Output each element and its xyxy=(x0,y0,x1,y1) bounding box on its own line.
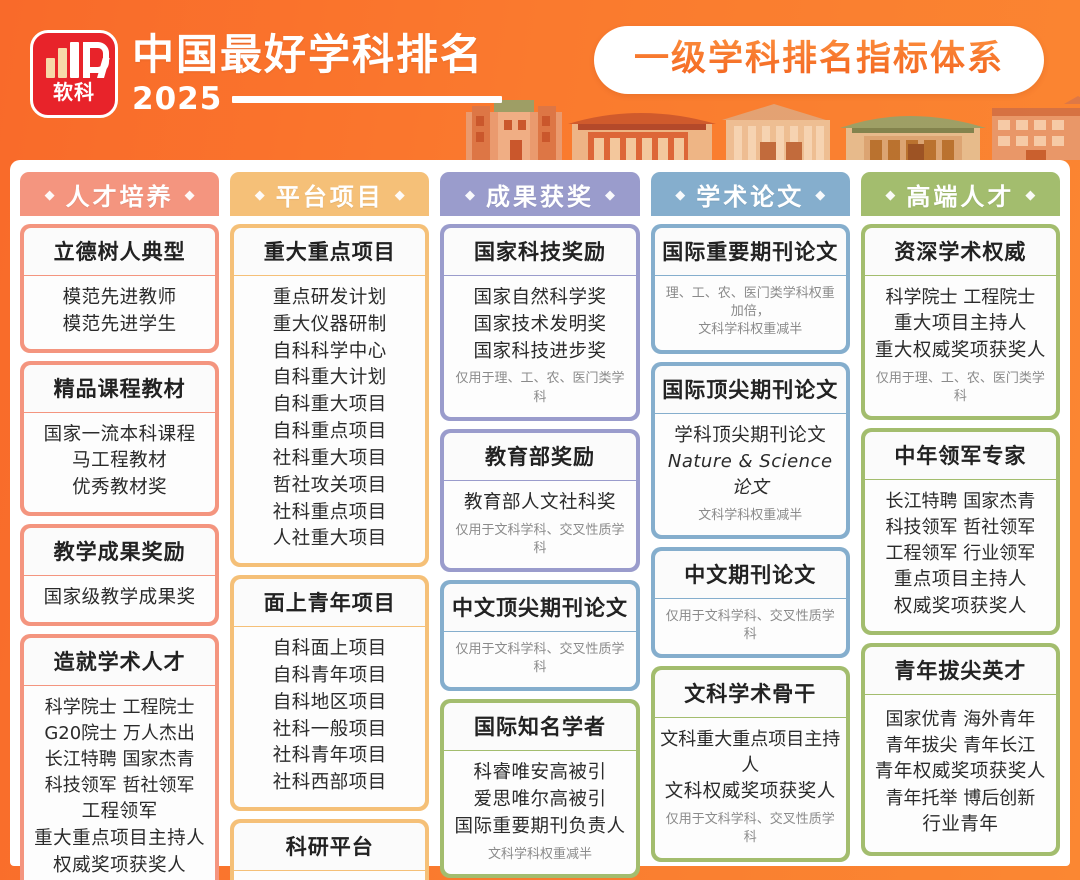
indicator-item: 科睿唯安高被引 xyxy=(449,760,630,787)
group-title: 国际重要期刊论文 xyxy=(655,228,846,275)
indicator-item: 模范先进教师 xyxy=(29,285,210,312)
column-col4: ◆学术论文◆国际重要期刊论文理、工、农、医门类学科权重加倍，文科学科权重减半国际… xyxy=(651,172,850,856)
indicator-group[interactable]: 中年领军专家长江特聘 国家杰青科技领军 哲社领军工程领军 行业领军重点项目主持人… xyxy=(861,428,1060,635)
group-body: 自科面上项目自科青年项目自科地区项目社科一般项目社科青年项目社科西部项目 xyxy=(234,627,425,807)
diamond-icon: ◆ xyxy=(395,188,405,201)
diamond-icon: ◆ xyxy=(465,188,475,201)
indicator-item: 哲社攻关项目 xyxy=(239,473,420,500)
indicator-item: 文科权威奖项获奖人 xyxy=(660,779,841,806)
indicator-note: 文科学科权重减半 xyxy=(449,846,630,864)
indicator-item: 国家一流本科课程 xyxy=(29,422,210,449)
group-body: 国家级教学成果奖 xyxy=(24,576,215,622)
indicator-item: 社科西部项目 xyxy=(239,770,420,797)
group-body: 理、工、农、医门类学科权重加倍，文科学科权重减半 xyxy=(655,276,846,350)
indicator-group[interactable]: 文科学术骨干文科重大重点项目主持人文科权威奖项获奖人仅用于文科学科、交叉性质学科 xyxy=(651,666,850,861)
indicator-item: 社科重大项目 xyxy=(239,446,420,473)
indicator-item: 重大重点项目主持人 xyxy=(29,826,210,853)
group-body: 科睿唯安高被引爱思唯尔高被引国际重要期刊负责人文科学科权重减半 xyxy=(444,751,635,874)
indicator-item: 自科重大计划 xyxy=(239,365,420,392)
group-title: 教学成果奖励 xyxy=(24,528,215,575)
indicator-group[interactable]: 教学成果奖励国家级教学成果奖 xyxy=(20,524,219,626)
indicator-note: 仅用于文科学科、交叉性质学科 xyxy=(449,641,630,677)
column-col3: ◆成果获奖◆国家科技奖励国家自然科学奖国家技术发明奖国家科技进步奖仅用于理、工、… xyxy=(440,172,639,856)
indicator-item: 优秀教材奖 xyxy=(29,475,210,502)
indicator-item: 国家科技进步奖 xyxy=(449,339,630,366)
diamond-icon: ◆ xyxy=(885,188,895,201)
diamond-icon: ◆ xyxy=(45,188,55,201)
indicator-item: 重点项目主持人 xyxy=(870,567,1051,594)
indicator-item: 权威奖项获奖人 xyxy=(870,594,1051,621)
brand-block: 软科 中国最好学科排名 2025 xyxy=(30,30,502,118)
indicator-item: 重大项目主持人 xyxy=(870,311,1051,338)
indicator-item: 工程领军 行业领军 xyxy=(870,541,1051,567)
group-title: 教育部奖励 xyxy=(444,433,635,480)
group-title: 文科学术骨干 xyxy=(655,670,846,717)
indicator-item: 科技领军 哲社领军 xyxy=(870,515,1051,541)
indicator-item: 权威奖项获奖人 xyxy=(29,853,210,880)
group-title: 立德树人典型 xyxy=(24,228,215,275)
indicator-item: 教育部人文社科奖 xyxy=(449,490,630,517)
group-body: 模范先进教师模范先进学生 xyxy=(24,276,215,349)
indicator-item: 社科重点项目 xyxy=(239,500,420,527)
indicator-group[interactable]: 教育部奖励教育部人文社科奖仅用于文科学科、交叉性质学科 xyxy=(440,429,639,572)
indicator-group[interactable]: 国际重要期刊论文理、工、农、医门类学科权重加倍，文科学科权重减半 xyxy=(651,224,850,354)
indicator-item: Nature & Science 论文 xyxy=(660,449,841,501)
column-header-col2[interactable]: ◆平台项目◆ xyxy=(230,172,429,216)
brand-year: 2025 xyxy=(132,84,222,115)
brand-title: 中国最好学科排名 xyxy=(132,32,502,78)
column-header-col5[interactable]: ◆高端人才◆ xyxy=(861,172,1060,216)
indicator-item: 青年权威奖项获奖人 xyxy=(870,759,1051,786)
indicator-item: 自科面上项目 xyxy=(239,636,420,663)
brand-rule-divider xyxy=(232,96,502,103)
group-body: 国家优青 海外青年青年拔尖 青年长江青年权威奖项获奖人青年托举 博后创新行业青年 xyxy=(865,695,1056,852)
indicator-note: 仅用于文科学科、交叉性质学科 xyxy=(660,608,841,644)
indicator-item: 科学院士 工程院士 xyxy=(29,695,210,721)
page-header: 软科 中国最好学科排名 2025 一级学科排名指标体系 xyxy=(0,0,1080,160)
indicator-item: 长江特聘 国家杰青 xyxy=(29,747,210,773)
indicator-item: 模范先进学生 xyxy=(29,312,210,339)
indicator-group[interactable]: 面上青年项目自科面上项目自科青年项目自科地区项目社科一般项目社科青年项目社科西部… xyxy=(230,575,429,811)
group-title: 国际顶尖期刊论文 xyxy=(655,366,846,413)
group-title: 精品课程教材 xyxy=(24,365,215,412)
diamond-icon: ◆ xyxy=(1025,188,1035,201)
indicator-item: 重大权威奖项获奖人 xyxy=(870,338,1051,365)
indicator-item: 科技领军 哲社领军 xyxy=(29,773,210,799)
indicator-group[interactable]: 中文期刊论文仅用于文科学科、交叉性质学科 xyxy=(651,547,850,658)
group-body: 科学院士 工程院士重大项目主持人重大权威奖项获奖人仅用于理、工、农、医门类学科 xyxy=(865,276,1056,416)
group-body: 国家自然科学奖国家技术发明奖国家科技进步奖仅用于理、工、农、医门类学科 xyxy=(444,276,635,417)
indicator-item: 国际重要期刊负责人 xyxy=(449,814,630,841)
group-title: 青年拔尖英才 xyxy=(865,647,1056,694)
page-title: 一级学科排名指标体系 xyxy=(634,39,1004,79)
indicator-item: 爱思唯尔高被引 xyxy=(449,787,630,814)
column-title: 高端人才 xyxy=(906,177,1014,212)
indicator-item: 自科重点项目 xyxy=(239,419,420,446)
indicator-item: 国家优青 海外青年 xyxy=(870,707,1051,733)
indicator-item: 重大仪器研制 xyxy=(239,312,420,339)
diamond-icon: ◆ xyxy=(185,188,195,201)
indicator-item: 青年托举 博后创新 xyxy=(870,786,1051,812)
indicator-group[interactable]: 国家科技奖励国家自然科学奖国家技术发明奖国家科技进步奖仅用于理、工、农、医门类学… xyxy=(440,224,639,421)
column-col2: ◆平台项目◆重大重点项目重点研发计划重大仪器研制自科科学中心自科重大计划自科重大… xyxy=(230,172,429,856)
indicator-note: 文科学科权重减半 xyxy=(660,507,841,525)
page-title-pill: 一级学科排名指标体系 xyxy=(594,26,1044,94)
university-buildings-illustration xyxy=(460,94,1080,160)
indicator-note: 仅用于理、工、农、医门类学科 xyxy=(870,370,1051,406)
indicator-item: 自科青年项目 xyxy=(239,663,420,690)
indicator-note: 仅用于文科学科、交叉性质学科 xyxy=(449,522,630,558)
indicator-group[interactable]: 重大重点项目重点研发计划重大仪器研制自科科学中心自科重大计划自科重大项目自科重点… xyxy=(230,224,429,567)
column-header-col3[interactable]: ◆成果获奖◆ xyxy=(440,172,639,216)
group-title: 中年领军专家 xyxy=(865,432,1056,479)
group-body: 学科顶尖期刊论文Nature & Science 论文文科学科权重减半 xyxy=(655,414,846,535)
indicator-item: 学科顶尖期刊论文 xyxy=(660,423,841,450)
indicator-item: 科学院士 工程院士 xyxy=(870,285,1051,311)
indicator-group[interactable]: 精品课程教材国家一流本科课程马工程教材优秀教材奖 xyxy=(20,361,219,516)
group-title: 重大重点项目 xyxy=(234,228,425,275)
column-title: 学术论文 xyxy=(696,177,804,212)
indicator-item: 文科重大重点项目主持人 xyxy=(660,727,841,779)
group-body: 科学院士 工程院士G20院士 万人杰出长江特聘 国家杰青科技领军 哲社领军工程领… xyxy=(24,686,215,880)
group-title: 造就学术人才 xyxy=(24,638,215,685)
indicator-group[interactable]: 立德树人典型模范先进教师模范先进学生 xyxy=(20,224,219,353)
indicator-item: 社科一般项目 xyxy=(239,717,420,744)
indicator-note: 理、工、农、医门类学科权重加倍，文科学科权重减半 xyxy=(660,285,841,340)
group-body: 仅用于文科学科、交叉性质学科 xyxy=(655,599,846,654)
diamond-icon: ◆ xyxy=(815,188,825,201)
column-title: 人才培养 xyxy=(66,177,174,212)
indicator-note: 仅用于文科学科、交叉性质学科 xyxy=(660,811,841,847)
indicator-group[interactable]: 国际知名学者科睿唯安高被引爱思唯尔高被引国际重要期刊负责人文科学科权重减半 xyxy=(440,699,639,878)
logo-text: 软科 xyxy=(53,82,95,102)
indicator-item: 自科科学中心 xyxy=(239,339,420,366)
indicator-group[interactable]: 科研平台文科学科权重减半 xyxy=(230,819,429,880)
group-body: 文科学科权重减半 xyxy=(234,871,425,880)
column-col5: ◆高端人才◆资深学术权威科学院士 工程院士重大项目主持人重大权威奖项获奖人仅用于… xyxy=(861,172,1060,856)
indicator-item: 重点研发计划 xyxy=(239,285,420,312)
indicator-item: 国家自然科学奖 xyxy=(449,285,630,312)
group-body: 长江特聘 国家杰青科技领军 哲社领军工程领军 行业领军重点项目主持人权威奖项获奖… xyxy=(865,480,1056,631)
indicator-group[interactable]: 国际顶尖期刊论文学科顶尖期刊论文Nature & Science 论文文科学科权… xyxy=(651,362,850,539)
indicator-note: 仅用于理、工、农、医门类学科 xyxy=(449,370,630,406)
indicator-item: 国家技术发明奖 xyxy=(449,312,630,339)
group-body: 重点研发计划重大仪器研制自科科学中心自科重大计划自科重大项目自科重点项目社科重大… xyxy=(234,276,425,563)
group-title: 资深学术权威 xyxy=(865,228,1056,275)
column-title: 成果获奖 xyxy=(486,177,594,212)
logo-bar-chart-icon xyxy=(46,42,103,78)
indicator-item: 人社重大项目 xyxy=(239,526,420,553)
group-body: 仅用于文科学科、交叉性质学科 xyxy=(444,632,635,687)
column-header-col1[interactable]: ◆人才培养◆ xyxy=(20,172,219,216)
diamond-icon: ◆ xyxy=(255,188,265,201)
indicator-group[interactable]: 造就学术人才科学院士 工程院士G20院士 万人杰出长江特聘 国家杰青科技领军 哲… xyxy=(20,634,219,880)
indicator-item: G20院士 万人杰出 xyxy=(29,721,210,747)
group-title: 面上青年项目 xyxy=(234,579,425,626)
indicator-board: ◆人才培养◆立德树人典型模范先进教师模范先进学生精品课程教材国家一流本科课程马工… xyxy=(10,160,1070,866)
indicator-item: 长江特聘 国家杰青 xyxy=(870,489,1051,515)
diamond-icon: ◆ xyxy=(605,188,615,201)
indicator-group[interactable]: 青年拔尖英才国家优青 海外青年青年拔尖 青年长江青年权威奖项获奖人青年托举 博后… xyxy=(861,643,1060,856)
group-body: 教育部人文社科奖仅用于文科学科、交叉性质学科 xyxy=(444,481,635,568)
indicator-item: 行业青年 xyxy=(870,812,1051,839)
group-title: 国际知名学者 xyxy=(444,703,635,750)
indicator-item: 自科重大项目 xyxy=(239,392,420,419)
group-body: 国家一流本科课程马工程教材优秀教材奖 xyxy=(24,413,215,512)
indicator-item: 自科地区项目 xyxy=(239,690,420,717)
indicator-group[interactable]: 资深学术权威科学院士 工程院士重大项目主持人重大权威奖项获奖人仅用于理、工、农、… xyxy=(861,224,1060,420)
group-title: 中文期刊论文 xyxy=(655,551,846,598)
diamond-icon: ◆ xyxy=(675,188,685,201)
column-header-col4[interactable]: ◆学术论文◆ xyxy=(651,172,850,216)
indicator-group[interactable]: 中文顶尖期刊论文仅用于文科学科、交叉性质学科 xyxy=(440,580,639,691)
indicator-item: 社科青年项目 xyxy=(239,743,420,770)
column-col1: ◆人才培养◆立德树人典型模范先进教师模范先进学生精品课程教材国家一流本科课程马工… xyxy=(20,172,219,856)
indicator-item: 工程领军 xyxy=(29,799,210,826)
group-title: 科研平台 xyxy=(234,823,425,870)
ruanke-logo: 软科 xyxy=(30,30,118,118)
column-title: 平台项目 xyxy=(276,177,384,212)
group-body: 文科重大重点项目主持人文科权威奖项获奖人仅用于文科学科、交叉性质学科 xyxy=(655,718,846,857)
indicator-item: 青年拔尖 青年长江 xyxy=(870,733,1051,759)
indicator-item: 马工程教材 xyxy=(29,448,210,475)
indicator-item: 国家级教学成果奖 xyxy=(29,585,210,612)
group-title: 国家科技奖励 xyxy=(444,228,635,275)
group-title: 中文顶尖期刊论文 xyxy=(444,584,635,631)
